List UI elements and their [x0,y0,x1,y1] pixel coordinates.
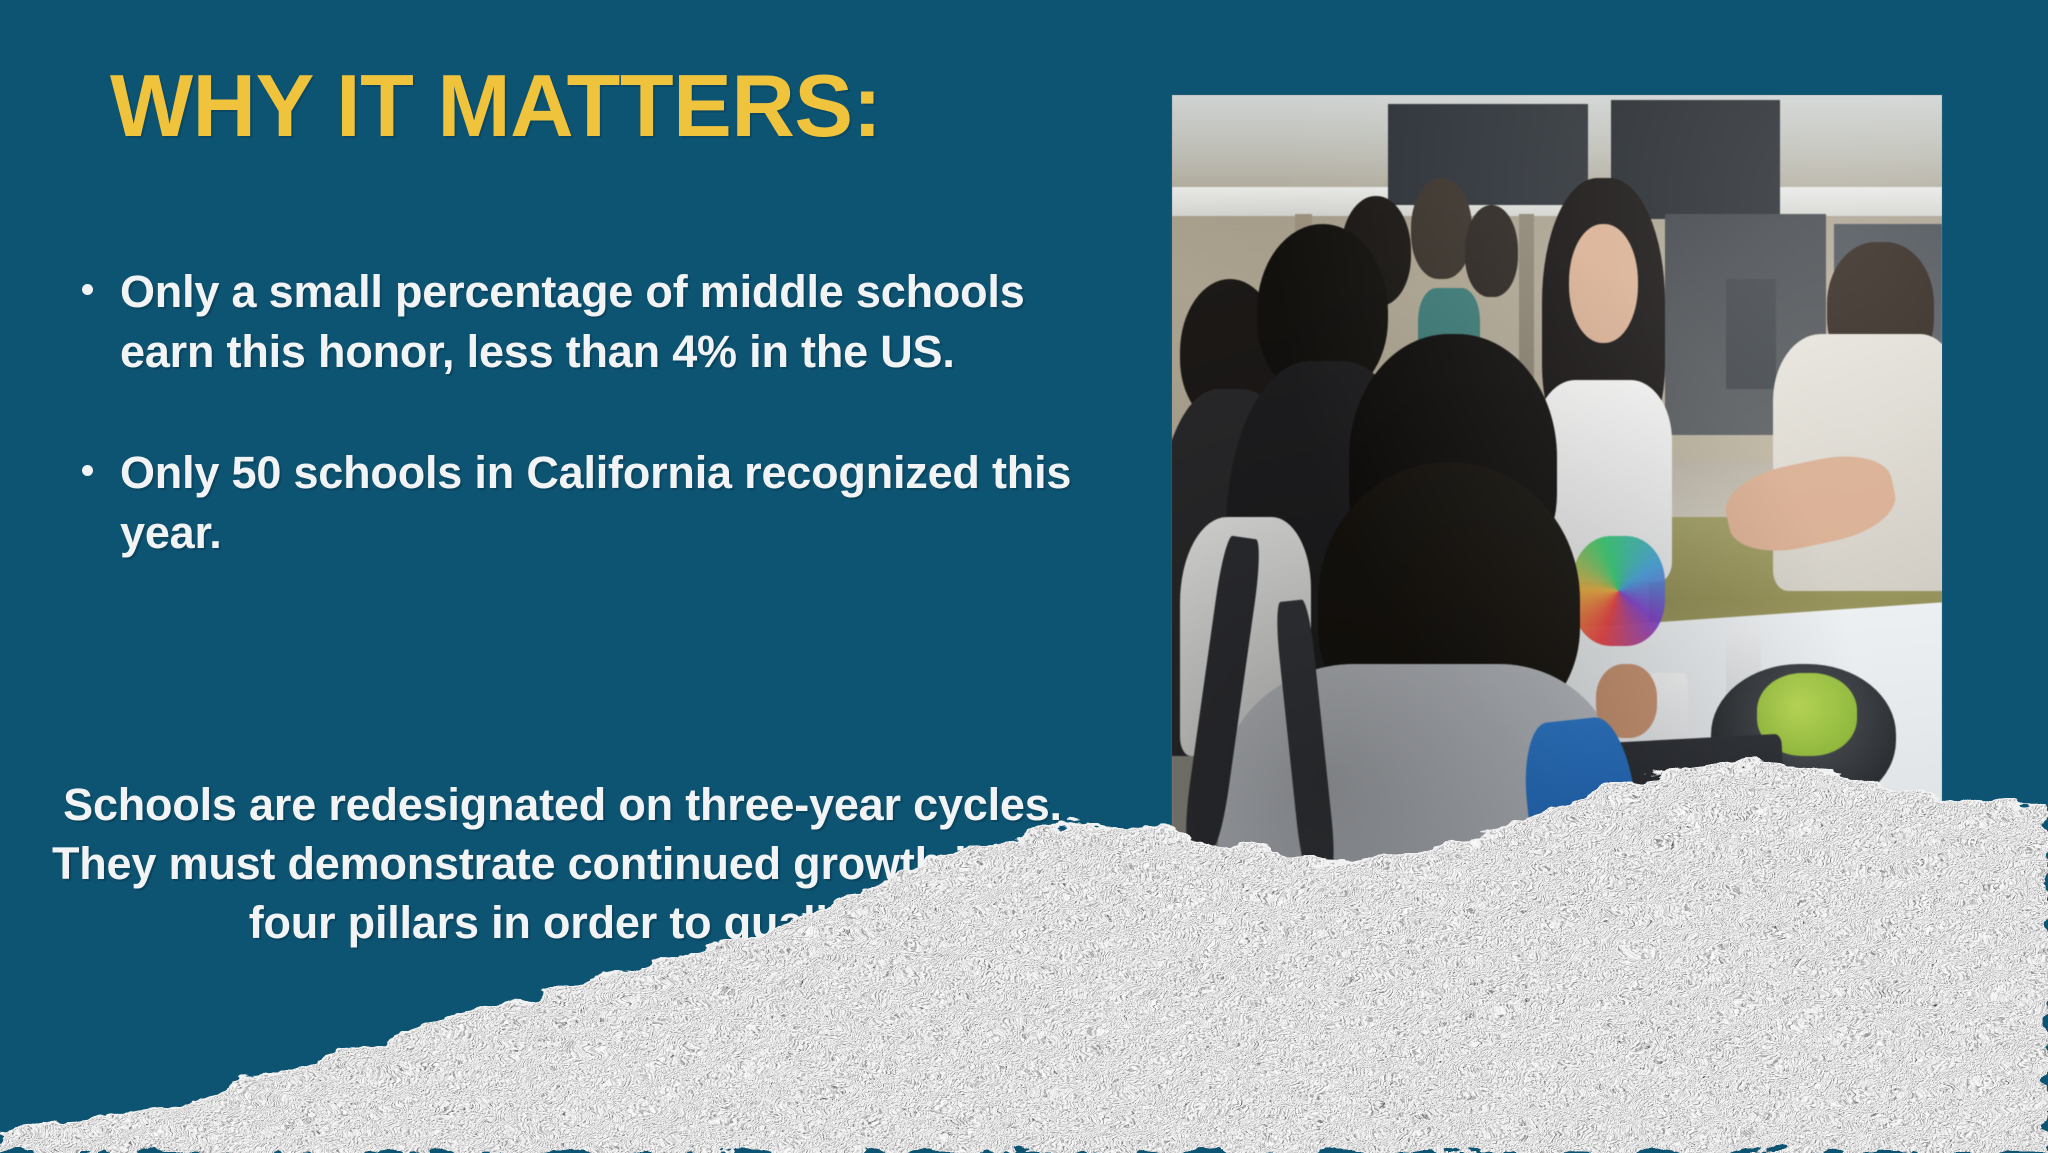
photo-background-person [1411,178,1473,279]
photo-window [1388,104,1588,205]
photo-cast-cuff [1542,949,1634,1004]
photo-kit-piece [1642,793,1681,857]
photo-kit-piece [1688,829,1727,893]
photo-background-person [1465,205,1519,297]
event-photo [1172,95,1942,1013]
photo-kit-piece [1711,774,1742,829]
list-item: Only a small percentage of middle school… [72,262,1082,383]
photo-student-face [1569,224,1638,343]
bullet-dot-icon [82,284,93,295]
text-column: WHY IT MATTERS: Only a small percentage … [0,0,1140,1153]
photo-content [1172,95,1942,1013]
photo-kit-piece [1673,912,1704,985]
list-item: Only 50 schools in California recognized… [72,443,1082,564]
photo-rainbow-object [1572,536,1664,646]
bullet-list: Only a small percentage of middle school… [72,262,1082,563]
bullet-text: Only 50 schools in California recognized… [120,447,1071,558]
bullet-dot-icon [82,465,93,476]
slide-canvas: WHY IT MATTERS: Only a small percentage … [0,0,2048,1153]
closing-paragraph: Schools are redesignated on three-year c… [40,776,1085,953]
page-title: WHY IT MATTERS: [110,62,881,150]
photo-trash-bin [1726,279,1776,389]
bullet-text: Only a small percentage of middle school… [120,266,1025,377]
